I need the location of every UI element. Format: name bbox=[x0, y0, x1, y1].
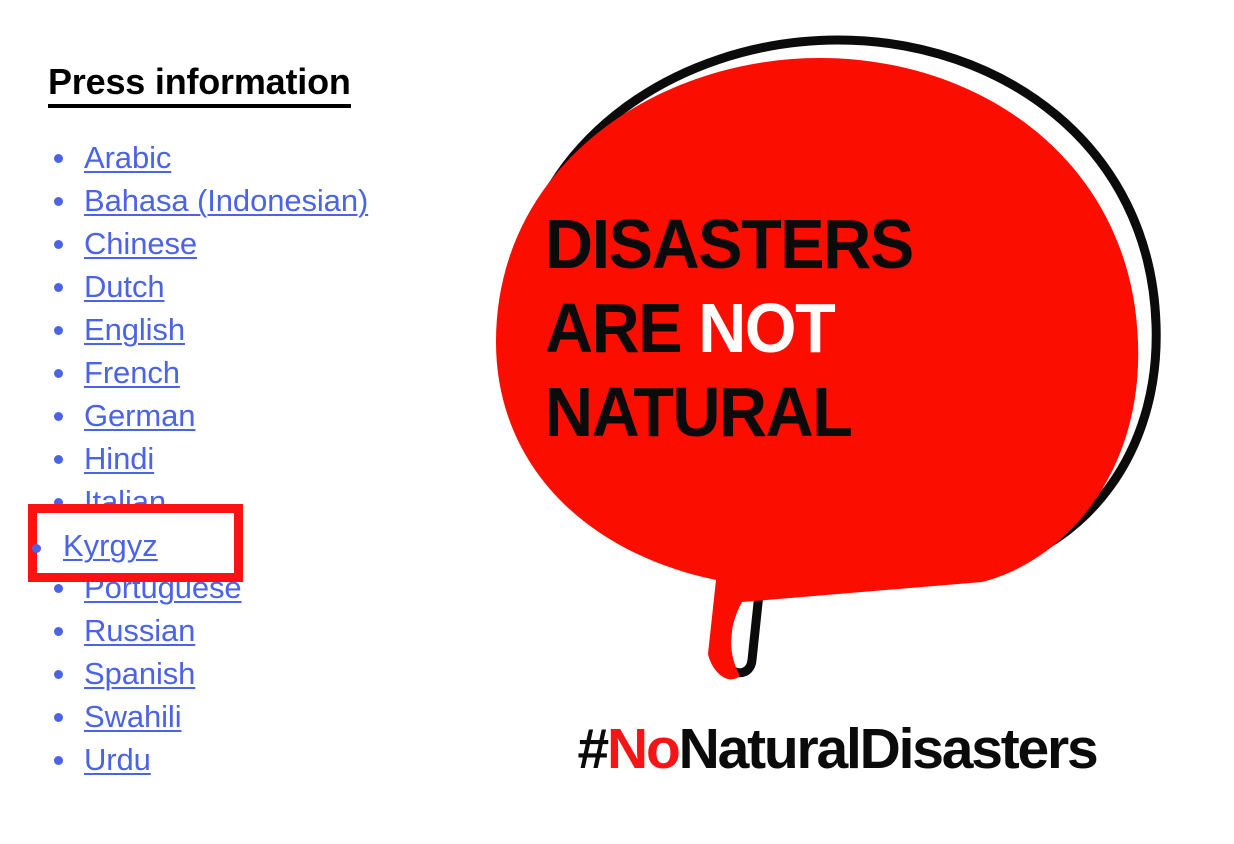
bullet-icon bbox=[54, 627, 63, 636]
language-link-chinese[interactable]: Chinese bbox=[84, 226, 197, 261]
language-link-french[interactable]: French bbox=[84, 355, 180, 390]
language-link-arabic[interactable]: Arabic bbox=[84, 140, 171, 175]
highlight-box-kyrgyz: Kyrgyz bbox=[28, 504, 243, 582]
bullet-icon bbox=[54, 326, 63, 335]
speech-bubble-graphic: DISASTERS ARE NOT NATURAL bbox=[440, 24, 1234, 704]
language-link-swahili[interactable]: Swahili bbox=[84, 699, 182, 734]
language-link-russian[interactable]: Russian bbox=[84, 613, 195, 648]
list-item[interactable]: Urdu bbox=[30, 738, 460, 781]
list-item[interactable]: English bbox=[30, 308, 460, 351]
list-item[interactable]: Bahasa (Indonesian) bbox=[30, 179, 460, 222]
bullet-icon bbox=[54, 197, 63, 206]
bullet-icon bbox=[32, 544, 41, 553]
language-link-spanish[interactable]: Spanish bbox=[84, 656, 195, 691]
press-information-panel: Press information Arabic Bahasa (Indones… bbox=[0, 0, 470, 844]
logo-panel: DISASTERS ARE NOT NATURAL #NoNaturalDisa… bbox=[440, 0, 1234, 844]
language-link-dutch[interactable]: Dutch bbox=[84, 269, 164, 304]
bullet-icon bbox=[54, 670, 63, 679]
language-link-bahasa[interactable]: Bahasa (Indonesian) bbox=[84, 183, 368, 218]
bullet-icon bbox=[54, 283, 63, 292]
language-list: Arabic Bahasa (Indonesian) Chinese Dutch… bbox=[30, 136, 460, 781]
bullet-icon bbox=[54, 412, 63, 421]
bullet-icon bbox=[54, 584, 63, 593]
bubble-fill bbox=[496, 58, 1138, 679]
hashtag-word-rest: NaturalDisasters bbox=[679, 717, 1097, 781]
bullet-icon bbox=[54, 154, 63, 163]
list-item[interactable]: Spanish bbox=[30, 652, 460, 695]
list-item[interactable]: French bbox=[30, 351, 460, 394]
hashtag-wordmark: #NoNaturalDisasters bbox=[440, 716, 1234, 782]
hashtag-word-no: No bbox=[607, 717, 679, 781]
language-link-hindi[interactable]: Hindi bbox=[84, 441, 154, 476]
list-item[interactable]: Dutch bbox=[30, 265, 460, 308]
list-item[interactable]: German bbox=[30, 394, 460, 437]
language-link-kyrgyz-highlighted[interactable]: Kyrgyz bbox=[63, 524, 158, 567]
list-item[interactable]: Swahili bbox=[30, 695, 460, 738]
bullet-icon bbox=[54, 756, 63, 765]
list-item[interactable]: Hindi bbox=[30, 437, 460, 480]
language-link-english[interactable]: English bbox=[84, 312, 185, 347]
list-item[interactable]: Chinese bbox=[30, 222, 460, 265]
language-link-urdu[interactable]: Urdu bbox=[84, 742, 151, 777]
bullet-icon bbox=[54, 455, 63, 464]
bullet-icon bbox=[54, 369, 63, 378]
language-link-german[interactable]: German bbox=[84, 398, 195, 433]
page-title: Press information bbox=[48, 62, 351, 108]
list-item[interactable]: Russian bbox=[30, 609, 460, 652]
list-item[interactable]: Arabic bbox=[30, 136, 460, 179]
bullet-icon bbox=[54, 713, 63, 722]
bullet-icon bbox=[54, 240, 63, 249]
hashtag-symbol: # bbox=[578, 717, 608, 781]
